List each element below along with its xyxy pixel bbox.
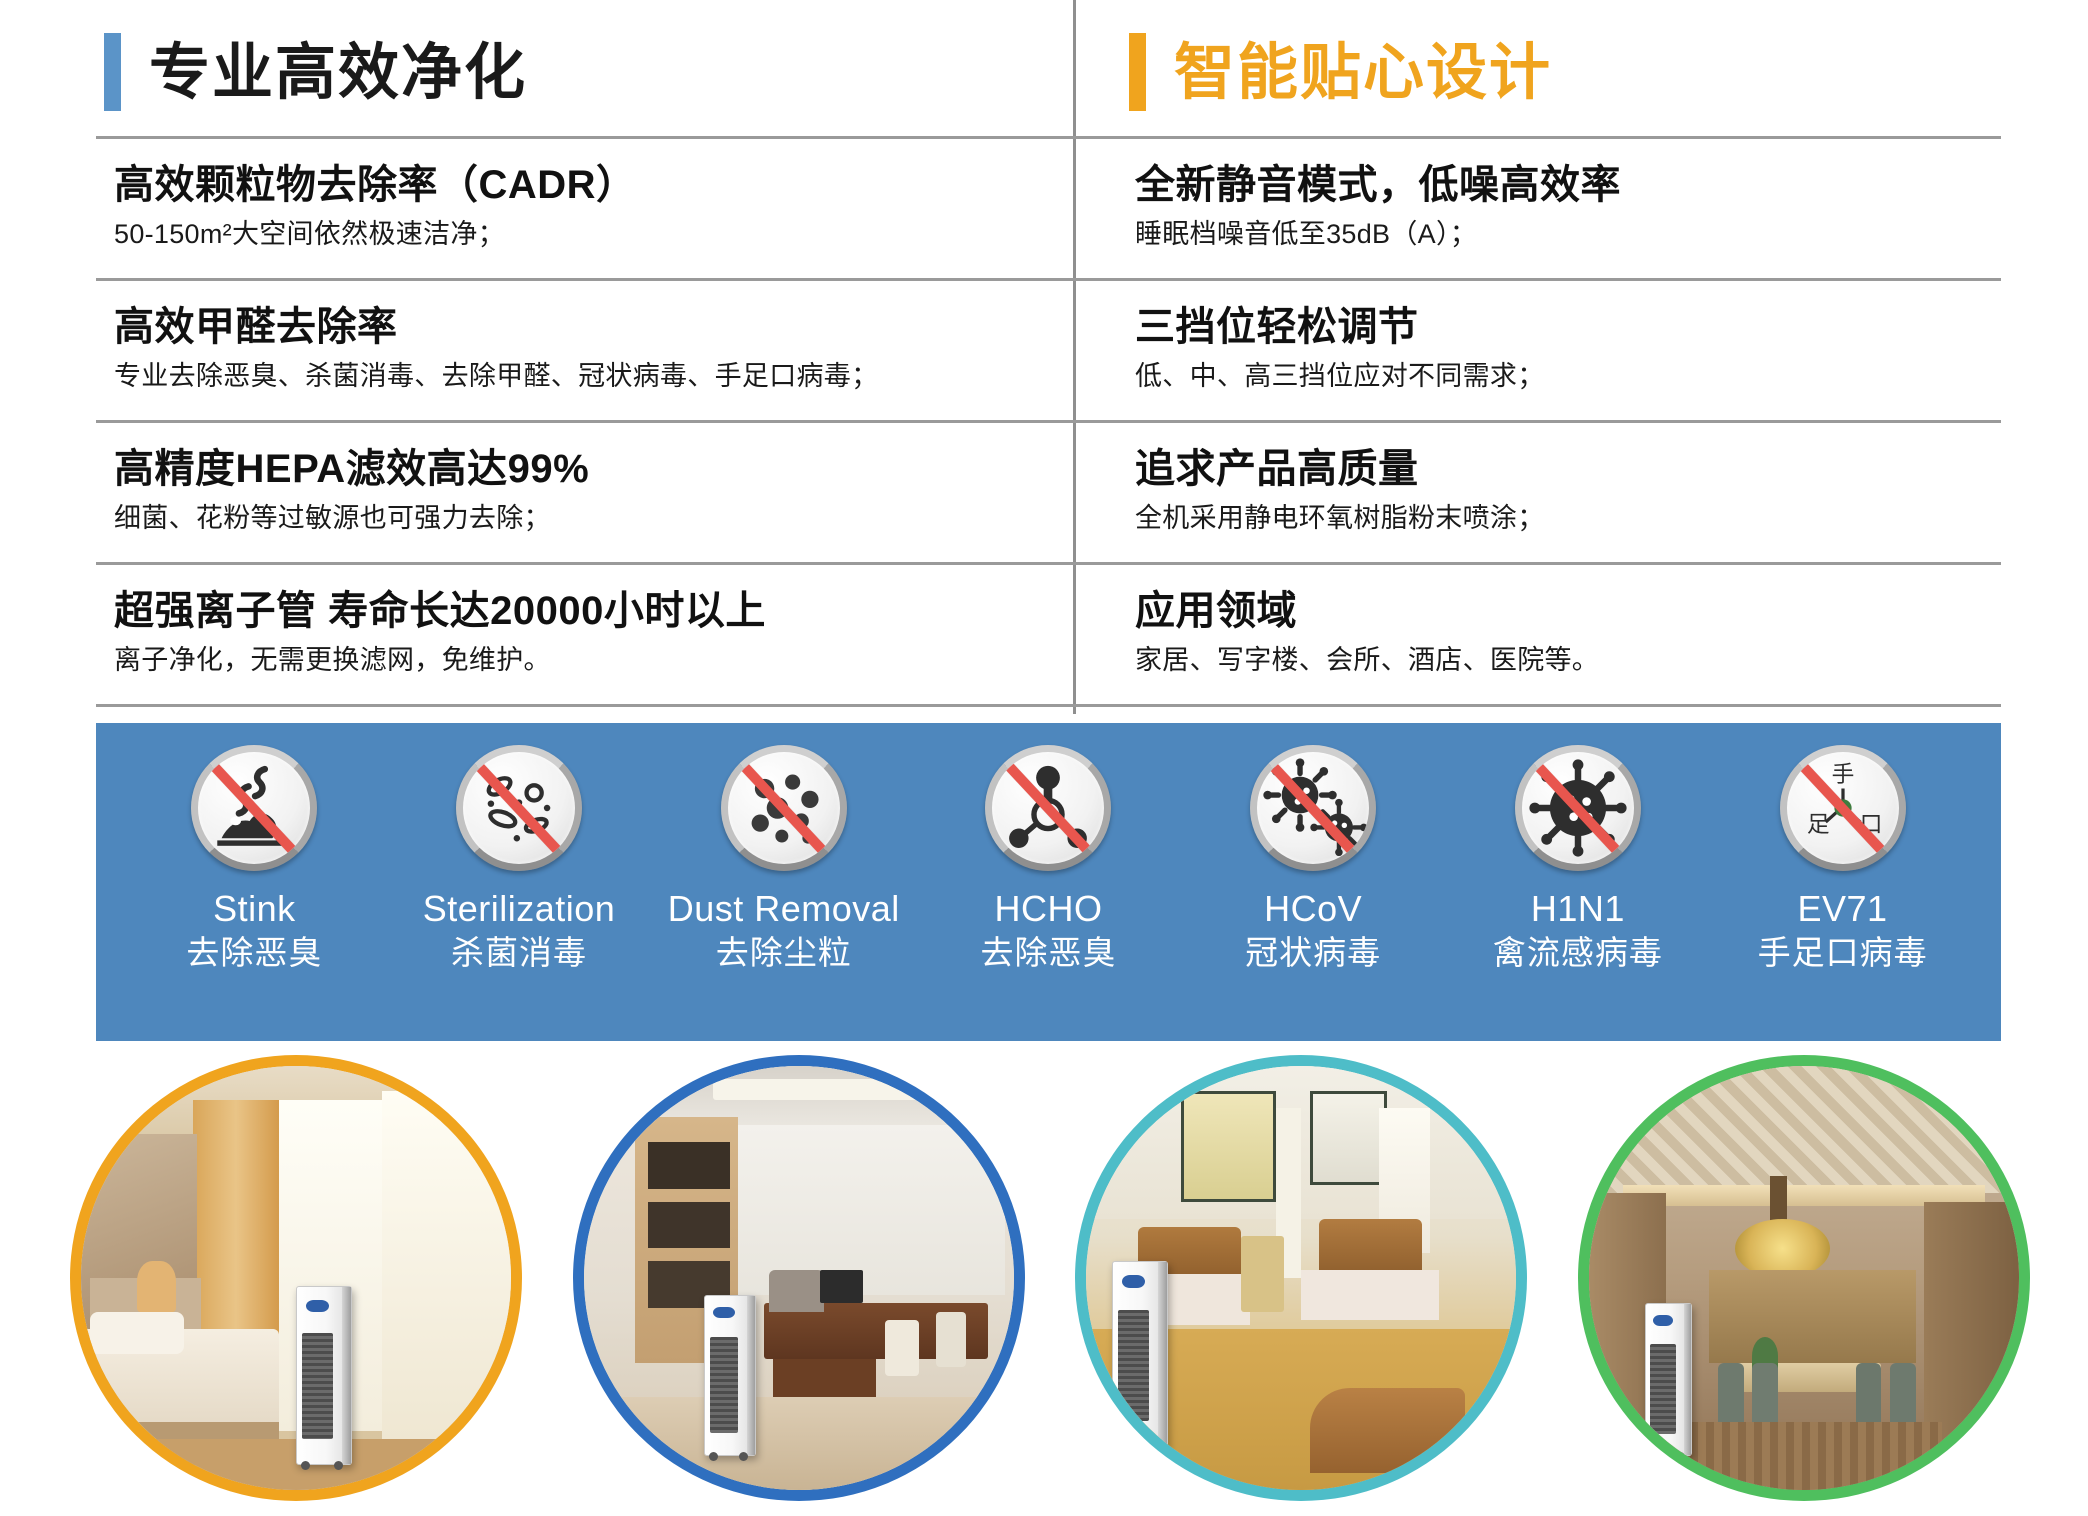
feature-title: 超强离子管 寿命长达20000小时以上 (114, 589, 1055, 634)
sterilization-icon (456, 745, 582, 871)
feature-title: 全新静音模式，低噪高效率 (1135, 163, 1983, 208)
feature-subtitle: 家居、写字楼、会所、酒店、医院等。 (1135, 644, 1983, 676)
feature-cell: 高效甲醛去除率 专业去除恶臭、杀菌消毒、去除甲醛、冠状病毒、手足口病毒； (96, 281, 1073, 420)
feature-title: 追求产品高质量 (1135, 447, 1983, 492)
accent-bar-right (1129, 33, 1146, 111)
air-purifier (704, 1295, 756, 1456)
band-label-cn: 冠状病毒 (1245, 933, 1381, 973)
band-label-cn: 去除尘粒 (716, 933, 852, 973)
coronavirus-icon (1250, 745, 1376, 871)
air-purifier (296, 1286, 352, 1464)
feature-subtitle: 低、中、高三挡位应对不同需求； (1135, 360, 1983, 392)
feature-subtitle: 专业去除恶臭、杀菌消毒、去除甲醛、冠状病毒、手足口病毒； (114, 360, 1055, 392)
feature-cell: 全新静音模式，低噪高效率 睡眠档噪音低至35dB（A）； (1073, 139, 2001, 278)
table-row: 高效甲醛去除率 专业去除恶臭、杀菌消毒、去除甲醛、冠状病毒、手足口病毒； 三挡位… (96, 281, 2001, 420)
hcho-molecule-icon (985, 745, 1111, 871)
feature-subtitle: 睡眠档噪音低至35dB（A）； (1135, 218, 1983, 250)
header-left: 专业高效净化 (96, 8, 1071, 136)
accent-bar-left (104, 33, 121, 111)
feature-title: 高效甲醛去除率 (114, 305, 1055, 350)
hospital-photo (1075, 1055, 1527, 1501)
header-left-title: 专业高效净化 (149, 42, 527, 103)
section-headers: 专业高效净化 智能贴心设计 (96, 8, 2001, 136)
row-divider (96, 704, 2001, 707)
band-item-hcho: HCHO 去除恶臭 (923, 745, 1173, 973)
application-photos (70, 1055, 2030, 1507)
feature-cell: 高效颗粒物去除率（CADR） 50-150m²大空间依然极速洁净； (96, 139, 1073, 278)
band-label-en: EV71 (1798, 889, 1888, 929)
band-label-en: Dust Removal (668, 889, 900, 929)
feature-title: 应用领域 (1135, 589, 1983, 634)
band-label-en: Stink (213, 889, 296, 929)
band-label-cn: 去除恶臭 (186, 933, 322, 973)
feature-subtitle: 50-150m²大空间依然极速洁净； (114, 218, 1055, 250)
feature-title: 高效颗粒物去除率（CADR） (114, 163, 1055, 208)
header-right-title: 智能贴心设计 (1174, 42, 1552, 103)
band-label-en: HCHO (994, 889, 1102, 929)
feature-table: 高效颗粒物去除率（CADR） 50-150m²大空间依然极速洁净； 全新静音模式… (96, 136, 2001, 707)
band-label-cn: 手足口病毒 (1758, 933, 1928, 973)
feature-cell: 追求产品高质量 全机采用静电环氧树脂粉末喷涂； (1073, 423, 2001, 562)
band-item-ev71: 手 足 口 EV71 手足口病毒 (1718, 745, 1968, 973)
stink-icon (191, 745, 317, 871)
feature-subtitle: 细菌、花粉等过敏源也可强力去除； (114, 502, 1055, 534)
air-purifier (1112, 1261, 1168, 1448)
feature-cell: 三挡位轻松调节 低、中、高三挡位应对不同需求； (1073, 281, 2001, 420)
purification-targets-band: Stink 去除恶臭 Sterilization 杀菌消毒 (96, 723, 2001, 1041)
svg-text:手: 手 (1831, 762, 1854, 788)
table-row: 超强离子管 寿命长达20000小时以上 离子净化，无需更换滤网，免维护。 应用领… (96, 565, 2001, 704)
office-photo (573, 1055, 1025, 1501)
dining-room-photo (1578, 1055, 2030, 1501)
feature-subtitle: 全机采用静电环氧树脂粉末喷涂； (1135, 502, 1983, 534)
feature-cell: 应用领域 家居、写字楼、会所、酒店、医院等。 (1073, 565, 2001, 704)
band-label-en: Sterilization (423, 889, 616, 929)
band-item-h1n1: H1N1 禽流感病毒 (1453, 745, 1703, 973)
header-right: 智能贴心设计 (1071, 8, 2001, 136)
hospital-scene (1086, 1066, 1516, 1490)
band-item-sterilization: Sterilization 杀菌消毒 (394, 745, 644, 973)
bedroom-photo (70, 1055, 522, 1501)
bedroom-scene (81, 1066, 511, 1490)
feature-cell: 高精度HEPA滤效高达99% 细菌、花粉等过敏源也可强力去除； (96, 423, 1073, 562)
band-label-cn: 去除恶臭 (980, 933, 1116, 973)
dining-room-scene (1589, 1066, 2019, 1490)
dust-removal-icon (721, 745, 847, 871)
band-item-dust-removal: Dust Removal 去除尘粒 (659, 745, 909, 973)
table-row: 高精度HEPA滤效高达99% 细菌、花粉等过敏源也可强力去除； 追求产品高质量 … (96, 423, 2001, 562)
office-scene (584, 1066, 1014, 1490)
hand-foot-mouth-icon: 手 足 口 (1780, 745, 1906, 871)
band-label-en: H1N1 (1531, 889, 1625, 929)
feature-title: 三挡位轻松调节 (1135, 305, 1983, 350)
influenza-virus-icon (1515, 745, 1641, 871)
band-item-stink: Stink 去除恶臭 (129, 745, 379, 973)
product-infographic: 专业高效净化 智能贴心设计 高效颗粒物去除率（CADR） 50-150m²大空间… (0, 0, 2088, 1516)
band-label-cn: 杀菌消毒 (451, 933, 587, 973)
band-item-hcov: HCoV 冠状病毒 (1188, 745, 1438, 973)
air-purifier (1645, 1303, 1692, 1456)
feature-cell: 超强离子管 寿命长达20000小时以上 离子净化，无需更换滤网，免维护。 (96, 565, 1073, 704)
table-row: 高效颗粒物去除率（CADR） 50-150m²大空间依然极速洁净； 全新静音模式… (96, 139, 2001, 278)
svg-text:足: 足 (1806, 812, 1829, 838)
feature-title: 高精度HEPA滤效高达99% (114, 447, 1055, 492)
band-label-cn: 禽流感病毒 (1493, 933, 1663, 973)
band-label-en: HCoV (1264, 889, 1362, 929)
feature-subtitle: 离子净化，无需更换滤网，免维护。 (114, 644, 1055, 676)
